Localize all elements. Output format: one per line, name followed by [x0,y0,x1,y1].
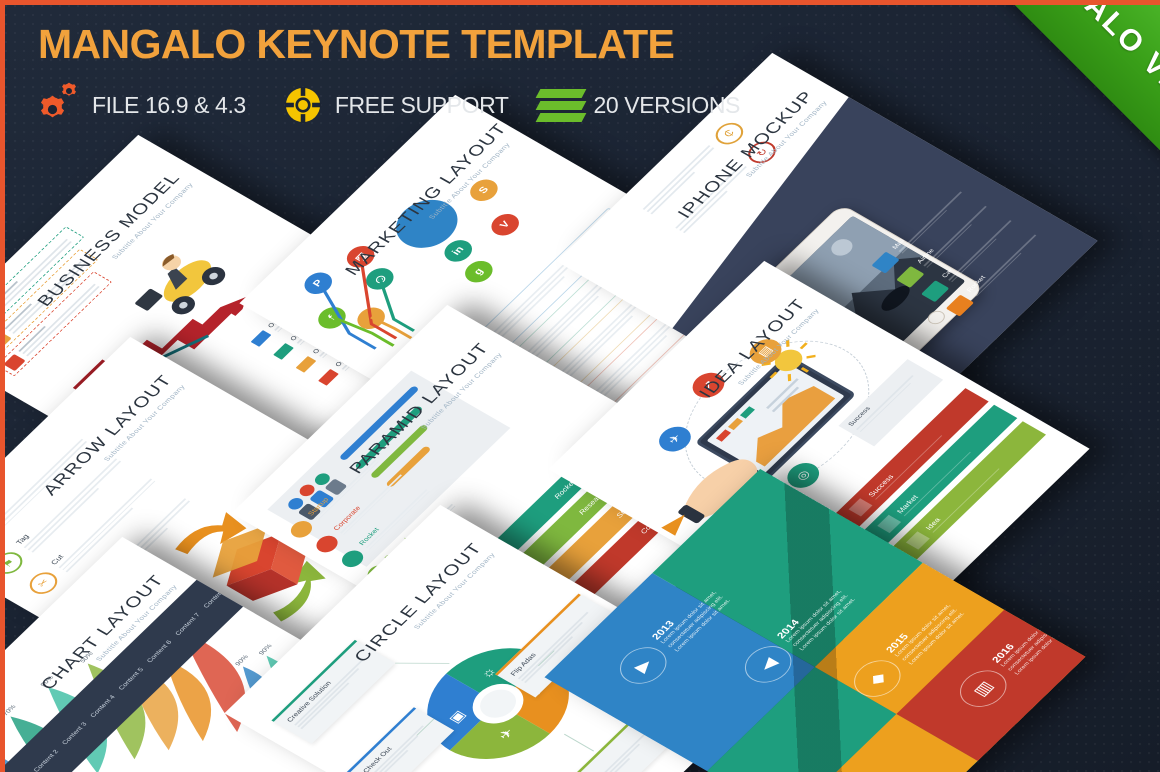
category-label: Content 7 [174,612,201,636]
scissors-icon: ✂ [24,568,63,598]
news-icon [849,498,873,516]
lifebuoy-icon [276,79,328,131]
feature-file-formats: FILE 16.9 & 4.3 [33,79,246,131]
building-icon [312,533,342,556]
category-label: Content 2 [32,749,59,772]
category-label: Content 3 [61,722,88,746]
tag-icon: ⚑ [0,548,28,578]
feature-label-support: FREE SUPPORT [335,92,509,119]
feature-label-file: FILE 16.9 & 4.3 [92,92,246,119]
legend-swatch [273,343,294,360]
layer-top [535,89,586,98]
callout-icon [3,354,25,371]
layers-glyph [538,89,584,123]
category-label: Content 6 [146,639,173,663]
header: MANGALO KEYNOTE TEMPLATE FILE 16.9 & 4.3 [5,5,825,155]
layers-icon [535,79,587,131]
layer-middle [535,101,586,110]
feature-free-support: FREE SUPPORT [276,79,509,131]
bulb-icon [906,531,930,549]
feature-label-versions: 20 VERSIONS [594,92,740,119]
expand-icon [877,515,901,533]
gears-icon [33,79,85,131]
layer-bottom [535,113,586,122]
category-label: Content 4 [89,694,116,718]
rocket-icon [338,547,368,570]
gear-small-icon [59,81,79,101]
page-title: MANGALO KEYNOTE TEMPLATE [38,21,674,68]
feature-versions: 20 VERSIONS [535,79,740,131]
legend-swatch [251,330,272,347]
lifebuoy-glyph [284,86,322,124]
category-label: Content 5 [117,667,144,691]
legend-swatch [296,356,317,373]
callout-icon [0,332,12,349]
svg-text:90%: 90% [234,654,250,667]
legend-swatch [318,369,339,386]
poster-canvas: MANGALO KEYNOTE TEMPLATE FILE 16.9 & 4.3 [0,0,1160,772]
svg-text:90%: 90% [258,643,274,656]
feature-list: FILE 16.9 & 4.3 FREE SUPPORT [33,79,740,131]
